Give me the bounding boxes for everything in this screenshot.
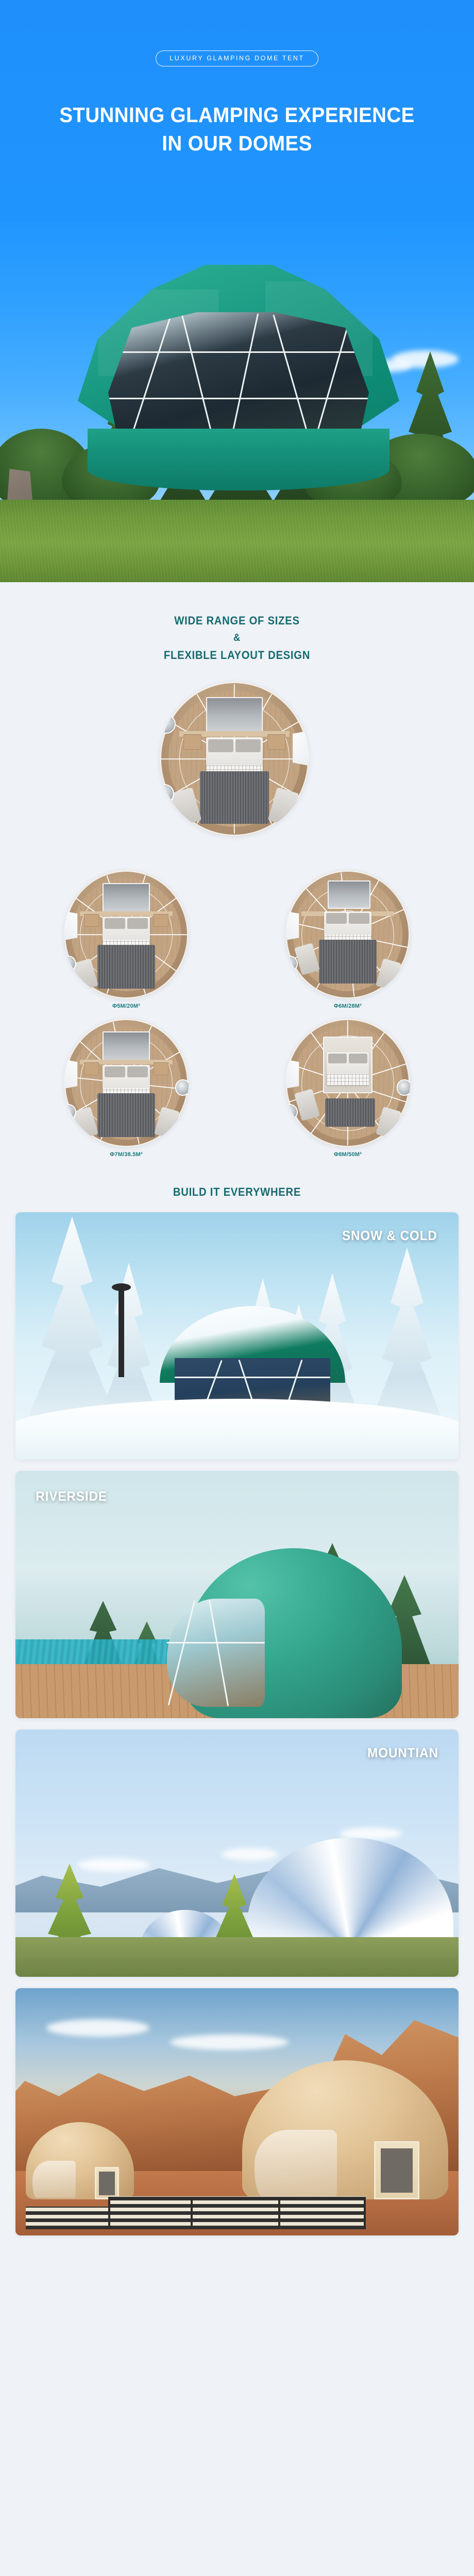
product-detail-page: LUXURY GLAMPING DOME TENT STUNNING GLAMP… (0, 0, 474, 2576)
handrail (108, 2197, 366, 2199)
vestibule (293, 728, 309, 768)
grass-field (0, 500, 474, 582)
scene-label-riverside: RIVERSIDE (36, 1488, 107, 1504)
floor-plan-card[interactable]: Φ5M/20M² (15, 870, 237, 1009)
floor-plan-caption: Φ8M/50M² (334, 1151, 362, 1158)
cloud-icon (222, 1848, 278, 1860)
page-title: STUNNING GLAMPING EXPERIENCE IN OUR DOME… (14, 101, 460, 157)
scene-card-snow[interactable]: SNOW & COLD (15, 1212, 459, 1460)
hero-badge-wrap: LUXURY GLAMPING DOME TENT (0, 50, 474, 66)
floor-plan-caption: Φ6M/28M² (334, 1003, 362, 1009)
floor-plan-artwork (64, 870, 189, 999)
scene-label-mountain: MOUNTIAN (367, 1745, 438, 1761)
dome-skirt (88, 429, 390, 490)
hero-badge: LUXURY GLAMPING DOME TENT (156, 50, 318, 66)
wooden-platform (108, 2196, 366, 2229)
floor-plan-artwork (285, 1019, 410, 1147)
hero-title-line-2: IN OUR DOMES (14, 129, 460, 158)
floor-plan-artwork (285, 870, 410, 999)
floor-plan-caption: Φ7M/38.5M² (110, 1151, 143, 1158)
floor-plan-card[interactable]: Φ8M/50M² (237, 1019, 459, 1158)
sizes-heading-line-2: FLEXIBLE LAYOUT DESIGN (164, 649, 310, 662)
dome-window (108, 312, 369, 442)
bathroom-pod (206, 697, 263, 734)
nightstand (183, 734, 201, 750)
snow-pine-tree (366, 1247, 448, 1433)
hillside-ground (15, 1937, 459, 1977)
sizes-heading-amp: & (19, 630, 455, 647)
sizes-section: WIDE RANGE OF SIZES & FLEXIBLE LAYOUT DE… (0, 582, 474, 1163)
sizes-heading: WIDE RANGE OF SIZES & FLEXIBLE LAYOUT DE… (19, 612, 455, 664)
sizes-heading-line-1: WIDE RANGE OF SIZES (174, 614, 299, 627)
snow-ground (15, 1399, 459, 1460)
build-everywhere-section: BUILD IT EVERYWHERE SNOW & COLD (0, 1163, 474, 2235)
floor-plan-card[interactable]: Φ7M/38.5M² (15, 1019, 237, 1158)
area-rug (200, 771, 268, 824)
featured-floor-plan (160, 682, 314, 846)
floor-plan-grid: Φ5M/20M² (15, 870, 459, 1158)
floor-plan-card[interactable]: Φ6M/28M² (237, 870, 459, 1009)
dome-tent (71, 251, 406, 519)
scene-card-desert[interactable] (15, 1988, 459, 2235)
floor-plan-caption: Φ5M/20M² (112, 1003, 140, 1009)
floor-plan-artwork (64, 1019, 189, 1147)
build-heading: BUILD IT EVERYWHERE (19, 1183, 455, 1201)
cloud-icon (46, 2019, 149, 2037)
cloud-icon (170, 2035, 289, 2050)
floor-plan-artwork (160, 682, 309, 836)
nightstand (267, 734, 285, 750)
hero-section: LUXURY GLAMPING DOME TENT STUNNING GLAMP… (0, 0, 474, 582)
dome-window (167, 1599, 265, 1707)
scene-card-riverside[interactable]: RIVERSIDE (15, 1471, 459, 1718)
stove-chimney (118, 1290, 124, 1377)
scene-card-mountain[interactable]: MOUNTIAN (15, 1730, 459, 1977)
scene-label-snow: SNOW & COLD (342, 1228, 437, 1244)
hero-title-line-1: STUNNING GLAMPING EXPERIENCE (59, 103, 414, 127)
wooden-platform (26, 2207, 108, 2229)
cloud-icon (77, 1858, 149, 1872)
hero-photo (0, 222, 474, 582)
